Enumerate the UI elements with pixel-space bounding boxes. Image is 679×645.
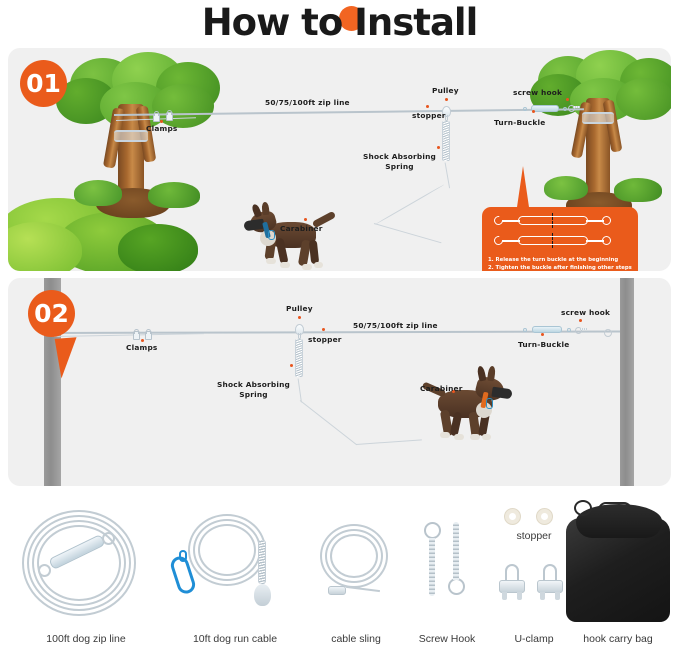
label-clamps: Clamps xyxy=(146,124,178,133)
marker-dot xyxy=(290,364,293,367)
label-carabiner: Carabiner xyxy=(280,224,323,233)
instruction-line-1: 1. Release the turn buckle at the beginn… xyxy=(488,257,633,265)
page-title: How to Install xyxy=(202,1,478,44)
turnbuckle-instruction-text: 1. Release the turn buckle at the beginn… xyxy=(488,257,633,271)
instruction-line-2: 2. Tighten the buckle after finishing ot… xyxy=(488,265,633,271)
marker-dot xyxy=(541,333,544,336)
product-run-cable: 10ft dog run cable xyxy=(160,502,310,645)
wall-post-right xyxy=(620,278,634,486)
clamp-icon xyxy=(144,329,151,339)
cable-wrap-band xyxy=(114,130,148,142)
leash-cable xyxy=(374,223,442,243)
label-turn-buckle: Turn-Buckle xyxy=(518,340,569,349)
run-cable-image xyxy=(160,502,310,622)
label-stopper: stopper xyxy=(308,335,342,344)
callout-tail xyxy=(55,337,80,378)
product-label: 10ft dog run cable xyxy=(193,633,277,645)
page-header: How to Install xyxy=(0,0,679,44)
product-label: hook carry bag xyxy=(583,633,652,645)
install-step-panel-02: Clamps Pulley stopper Shock Absorbing Sp… xyxy=(8,278,671,486)
turnbuckle-icon xyxy=(520,105,570,112)
label-pulley: Pulley xyxy=(286,304,313,313)
label-turn-buckle: Turn-Buckle xyxy=(494,118,545,127)
product-zip-line: 100ft dog zip line xyxy=(8,502,164,645)
label-carabiner: Carabiner xyxy=(420,384,463,393)
turnbuckle-icon xyxy=(520,326,574,333)
dog-illustration xyxy=(242,200,342,271)
label-stopper: stopper xyxy=(412,111,446,120)
product-label: U-clamp xyxy=(514,633,553,645)
shock-absorbing-spring-icon xyxy=(295,339,303,377)
label-screw-hook: screw hook xyxy=(561,308,610,317)
screw-hook-icon xyxy=(575,325,587,333)
shock-absorbing-spring-icon xyxy=(442,121,450,161)
tree-right xyxy=(528,50,671,220)
label-shock-spring-line1: Shock Absorbing xyxy=(363,152,436,162)
label-shock-spring-line2: Spring xyxy=(363,162,436,172)
label-pulley: Pulley xyxy=(432,86,459,95)
marker-dot xyxy=(141,339,144,342)
clamp-icon xyxy=(132,329,139,339)
label-shock-spring-line1: Shock Absorbing xyxy=(217,380,290,390)
label-shock-spring: Shock Absorbing Spring xyxy=(363,152,436,172)
label-zip-line: 50/75/100ft zip line xyxy=(265,98,350,107)
screw-hook-icon xyxy=(568,103,580,111)
marker-dot xyxy=(426,105,429,108)
turnbuckle-instruction-callout: 1. Release the turn buckle at the beginn… xyxy=(482,207,638,271)
label-shock-spring-line2: Spring xyxy=(217,390,290,400)
leash-cable xyxy=(444,162,450,188)
label-clamps: Clamps xyxy=(126,343,158,352)
label-screw-hook: screw hook xyxy=(513,88,562,97)
product-carry-bag: hook carry bag xyxy=(558,498,678,645)
product-label: 100ft dog zip line xyxy=(46,633,125,645)
dog-illustration xyxy=(420,364,520,442)
turnbuckle-diagram-open xyxy=(492,213,628,228)
marker-dot xyxy=(298,316,301,319)
leash-cable xyxy=(356,439,422,445)
tree-left xyxy=(56,52,226,232)
label-shock-spring: Shock Absorbing Spring xyxy=(217,380,290,400)
turnbuckle-diagram-closed xyxy=(492,233,628,248)
product-label: cable sling xyxy=(331,633,381,645)
product-contents-row: 100ft dog zip line 10ft dog run cable ca… xyxy=(0,492,679,645)
step-badge-02: 02 xyxy=(28,290,75,337)
marker-dot xyxy=(445,98,448,101)
marker-dot xyxy=(579,319,582,322)
leash-cable xyxy=(300,400,357,445)
pulley-icon xyxy=(295,324,304,339)
step-badge-01: 01 xyxy=(20,60,67,107)
clamp-icon xyxy=(152,111,159,121)
install-step-panel-01: Clamps 50/75/100ft zip line stopper Pull… xyxy=(8,48,671,271)
wall-eyebolt-icon xyxy=(604,328,614,336)
label-zip-line: 50/75/100ft zip line xyxy=(353,321,438,330)
clamp-icon xyxy=(165,110,172,120)
zip-line-image xyxy=(8,502,164,622)
marker-dot xyxy=(437,146,440,149)
cable-wrap-band xyxy=(582,112,614,124)
carry-bag-image xyxy=(558,498,678,624)
leash-cable xyxy=(374,184,444,225)
product-label: Screw Hook xyxy=(419,633,476,645)
